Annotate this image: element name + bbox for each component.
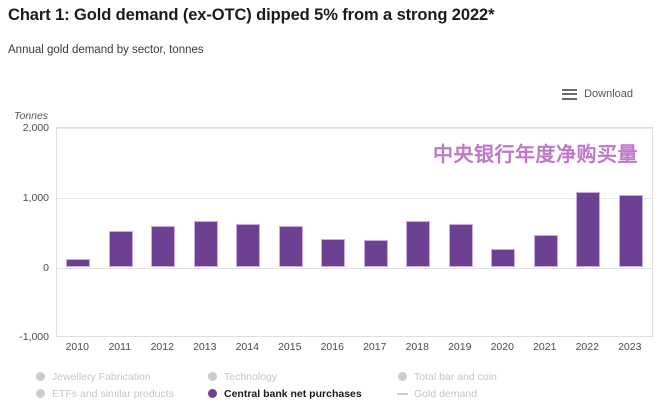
x-tick-2017: 2017 [363, 341, 386, 353]
bar-2021[interactable] [534, 235, 558, 267]
bar-2015[interactable] [279, 226, 303, 267]
legend-label: Total bar and coin [414, 371, 497, 383]
download-button[interactable]: Download [562, 88, 633, 100]
legend-label: ETFs and similar products [52, 388, 174, 400]
y-tick-0: 0 [43, 262, 49, 274]
legend-dot-icon [36, 389, 45, 398]
bar-2020[interactable] [491, 249, 515, 266]
bar-2014[interactable] [236, 224, 260, 267]
legend-dot-icon [36, 372, 45, 381]
x-axis-labels: 2010201120122013201420152016201720182019… [56, 341, 653, 359]
chart-annotation: 中央银行年度净购买量 [433, 138, 638, 167]
page-title: Chart 1: Gold demand (ex-OTC) dipped 5% … [8, 6, 494, 25]
legend-label: Gold demand [414, 388, 477, 400]
legend-dot-icon [398, 372, 407, 381]
x-tick-2015: 2015 [278, 341, 301, 353]
y-tick-1000: 1,000 [23, 192, 49, 204]
chart-subtitle: Annual gold demand by sector, tonnes [8, 44, 204, 56]
bar-2010[interactable] [66, 259, 90, 267]
x-tick-2016: 2016 [321, 341, 344, 353]
bar-2019[interactable] [449, 224, 473, 266]
legend-item-technology[interactable]: Technology [208, 369, 398, 384]
x-tick-2021: 2021 [533, 341, 556, 353]
plot-area: 2,000 1,000 0 -1,000 中央银行年度净购买量 [56, 127, 653, 337]
bar-2016[interactable] [321, 239, 345, 266]
download-label: Download [584, 88, 633, 100]
chart-legend: Jewellery FabricationTechnologyTotal bar… [36, 369, 636, 401]
legend-label: Jewellery Fabrication [52, 371, 151, 383]
legend-item-etfs-and-similar-products[interactable]: ETFs and similar products [36, 386, 208, 401]
bar-2017[interactable] [364, 240, 388, 266]
legend-label: Technology [224, 371, 277, 383]
x-tick-2023: 2023 [618, 341, 641, 353]
legend-line-icon [397, 393, 408, 395]
bar-2022[interactable] [576, 192, 600, 267]
legend-item-central-bank-net-purchases[interactable]: Central bank net purchases [208, 386, 398, 401]
legend-item-total-bar-and-coin[interactable]: Total bar and coin [398, 369, 636, 384]
x-tick-2022: 2022 [576, 341, 599, 353]
y-tick-2000: 2,000 [23, 122, 49, 134]
y-axis-unit-label: Tonnes [14, 110, 48, 122]
legend-dot-icon [208, 372, 217, 381]
x-tick-2019: 2019 [448, 341, 471, 353]
legend-label: Central bank net purchases [224, 388, 362, 400]
x-tick-2013: 2013 [193, 341, 216, 353]
legend-dot-icon [208, 389, 217, 398]
bar-2013[interactable] [194, 221, 218, 267]
legend-item-jewellery-fabrication[interactable]: Jewellery Fabrication [36, 369, 208, 384]
hamburger-icon [562, 89, 577, 100]
legend-item-gold-demand[interactable]: Gold demand [398, 386, 636, 401]
bar-2018[interactable] [406, 221, 430, 267]
x-tick-2018: 2018 [406, 341, 429, 353]
x-tick-2011: 2011 [108, 341, 131, 353]
x-tick-2020: 2020 [491, 341, 514, 353]
bar-2012[interactable] [151, 226, 175, 266]
bar-2011[interactable] [109, 231, 133, 266]
x-tick-2010: 2010 [66, 341, 89, 353]
x-tick-2012: 2012 [151, 341, 174, 353]
x-tick-2014: 2014 [236, 341, 259, 353]
y-tick--1000: -1,000 [19, 331, 49, 343]
bar-2023[interactable] [619, 195, 643, 266]
